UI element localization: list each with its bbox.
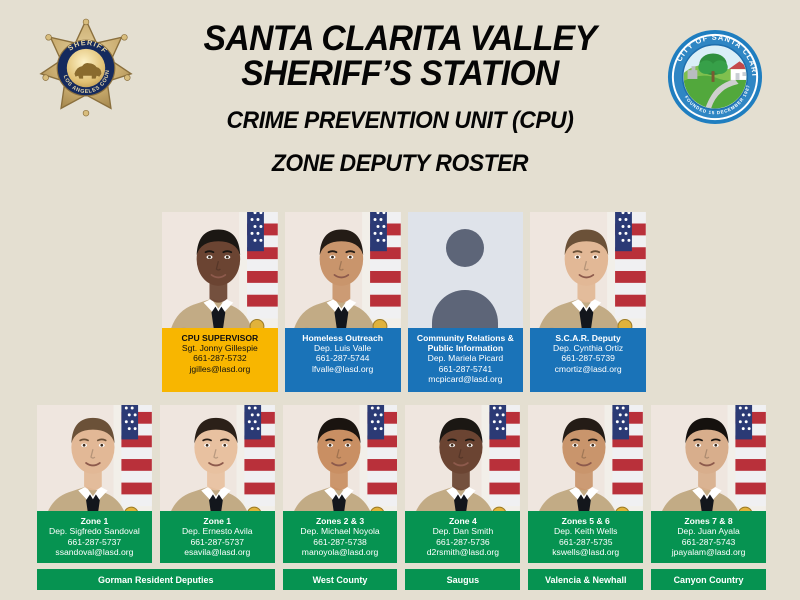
deputy-name: Dep. Mariela Picard <box>411 353 521 363</box>
supervisor-card-row: CPU SUPERVISORSgt. Jonny Gillespie661-28… <box>162 212 646 392</box>
deputy-email: jpayalam@lasd.org <box>654 547 763 557</box>
deputy-portrait-photo <box>37 405 152 511</box>
zone-deputy-card[interactable]: Zones 2 & 3Dep. Michael Noyola661-287-57… <box>283 405 398 563</box>
area-label: Canyon Country <box>651 569 766 590</box>
deputy-caption: CPU SUPERVISORSgt. Jonny Gillespie661-28… <box>162 328 278 392</box>
zone-deputy-card[interactable]: Zone 1Dep. Ernesto Avila661-287-5737esav… <box>160 405 275 563</box>
roster-poster: SHERIFF LOS ANGELES COUNTY SANTA CLARITA… <box>0 0 800 600</box>
deputy-name: Dep. Keith Wells <box>531 526 640 536</box>
page-subtitle-line2: ZONE DEPUTY ROSTER <box>153 152 647 176</box>
area-label: West County <box>283 569 398 590</box>
deputy-phone: 661-287-5739 <box>533 353 643 363</box>
deputy-role-label: Zone 1 <box>40 516 149 526</box>
deputy-portrait-photo <box>162 212 278 328</box>
deputy-phone: 661-287-5743 <box>654 537 763 547</box>
zone-deputy-card[interactable]: Zone 1Dep. Sigfredo Sandoval661-287-5737… <box>37 405 152 563</box>
deputy-name: Dep. Michael Noyola <box>286 526 395 536</box>
placeholder-avatar-icon <box>408 212 524 328</box>
deputy-phone: 661-287-5744 <box>288 353 398 363</box>
deputy-name: Dep. Sigfredo Sandoval <box>40 526 149 536</box>
deputy-email: jgilles@lasd.org <box>165 364 275 374</box>
deputy-email: esavila@lasd.org <box>163 547 272 557</box>
deputy-phone: 661-287-5738 <box>286 537 395 547</box>
deputy-caption: Zone 4Dep. Dan Smith661-287-5736d2rsmith… <box>405 511 520 563</box>
deputy-portrait-photo <box>528 405 643 511</box>
deputy-role-label: Zones 5 & 6 <box>531 516 640 526</box>
deputy-caption: Zone 1Dep. Sigfredo Sandoval661-287-5737… <box>37 511 152 563</box>
deputy-phone: 661-287-5741 <box>411 364 521 374</box>
deputy-portrait-photo <box>285 212 401 328</box>
deputy-caption: Zones 7 & 8Dep. Juan Ayala661-287-5743jp… <box>651 511 766 563</box>
deputy-caption: Community Relations &Public InformationD… <box>408 328 524 392</box>
deputy-caption: S.C.A.R. DeputyDep. Cynthia Ortiz661-287… <box>530 328 646 392</box>
deputy-caption: Zones 5 & 6Dep. Keith Wells661-287-5735k… <box>528 511 643 563</box>
deputy-portrait-photo <box>405 405 520 511</box>
deputy-portrait-photo <box>530 212 646 328</box>
area-label: Valencia & Newhall <box>528 569 643 590</box>
deputy-portrait-photo <box>283 405 398 511</box>
supervisor-card[interactable]: Community Relations &Public InformationD… <box>408 212 524 392</box>
deputy-email: kswells@lasd.org <box>531 547 640 557</box>
zone-deputy-card[interactable]: Zone 4Dep. Dan Smith661-287-5736d2rsmith… <box>405 405 520 563</box>
deputy-role-label-line2: Public Information <box>411 343 521 353</box>
area-label: Saugus <box>405 569 520 590</box>
deputy-phone: 661-287-5737 <box>163 537 272 547</box>
poster-title-block: SANTA CLARITA VALLEY SHERIFF’S STATION C… <box>140 22 660 176</box>
page-title-line1: SANTA CLARITA VALLEY <box>150 22 649 57</box>
deputy-name: Dep. Luis Valle <box>288 343 398 353</box>
deputy-portrait-photo <box>651 405 766 511</box>
deputy-caption: Zones 2 & 3Dep. Michael Noyola661-287-57… <box>283 511 398 563</box>
page-subtitle-line1: CRIME PREVENTION UNIT (CPU) <box>153 109 647 133</box>
deputy-name: Dep. Juan Ayala <box>654 526 763 536</box>
zone-deputy-card[interactable]: Zones 7 & 8Dep. Juan Ayala661-287-5743jp… <box>651 405 766 563</box>
deputy-email: manoyola@lasd.org <box>286 547 395 557</box>
city-of-santa-clarita-seal-icon: CITY OF SANTA CLARITA FOUNDED 15 DECEMBE… <box>666 28 764 126</box>
deputy-phone: 661-287-5736 <box>408 537 517 547</box>
deputy-caption: Zone 1Dep. Ernesto Avila661-287-5737esav… <box>160 511 275 563</box>
deputy-phone: 661-287-5732 <box>165 353 275 363</box>
area-label: Gorman Resident Deputies <box>37 569 275 590</box>
deputy-email: d2rsmith@lasd.org <box>408 547 517 557</box>
deputy-name: Dep. Ernesto Avila <box>163 526 272 536</box>
deputy-role-label: Zone 1 <box>163 516 272 526</box>
area-label-bar: Gorman Resident DeputiesWest CountySaugu… <box>37 569 766 590</box>
deputy-email: ssandoval@lasd.org <box>40 547 149 557</box>
deputy-role-label: Homeless Outreach <box>288 333 398 343</box>
deputy-name: Sgt. Jonny Gillespie <box>165 343 275 353</box>
deputy-name: Dep. Cynthia Ortiz <box>533 343 643 353</box>
page-title-line2: SHERIFF’S STATION <box>150 57 649 92</box>
deputy-role-label: Zones 2 & 3 <box>286 516 395 526</box>
sheriff-star-badge-icon: SHERIFF LOS ANGELES COUNTY <box>38 18 134 120</box>
deputy-name: Dep. Dan Smith <box>408 526 517 536</box>
deputy-role-label: Zones 7 & 8 <box>654 516 763 526</box>
supervisor-card[interactable]: S.C.A.R. DeputyDep. Cynthia Ortiz661-287… <box>530 212 646 392</box>
placeholder-avatar <box>408 212 524 328</box>
deputy-role-label: Zone 4 <box>408 516 517 526</box>
deputy-portrait-photo <box>160 405 275 511</box>
deputy-phone: 661-287-5737 <box>40 537 149 547</box>
deputy-email: mcpicard@lasd.org <box>411 374 521 384</box>
deputy-role-label: S.C.A.R. Deputy <box>533 333 643 343</box>
deputy-caption: Homeless OutreachDep. Luis Valle661-287-… <box>285 328 401 392</box>
zone-deputy-card-row: Zone 1Dep. Sigfredo Sandoval661-287-5737… <box>37 405 766 563</box>
supervisor-card[interactable]: Homeless OutreachDep. Luis Valle661-287-… <box>285 212 401 392</box>
zone-deputy-card[interactable]: Zones 5 & 6Dep. Keith Wells661-287-5735k… <box>528 405 643 563</box>
deputy-phone: 661-287-5735 <box>531 537 640 547</box>
deputy-role-label: Community Relations & <box>411 333 521 343</box>
supervisor-card[interactable]: CPU SUPERVISORSgt. Jonny Gillespie661-28… <box>162 212 278 392</box>
deputy-email: cmortiz@lasd.org <box>533 364 643 374</box>
deputy-email: lfvalle@lasd.org <box>288 364 398 374</box>
deputy-role-label: CPU SUPERVISOR <box>165 333 275 343</box>
poster-header: SHERIFF LOS ANGELES COUNTY SANTA CLARITA… <box>0 0 800 185</box>
